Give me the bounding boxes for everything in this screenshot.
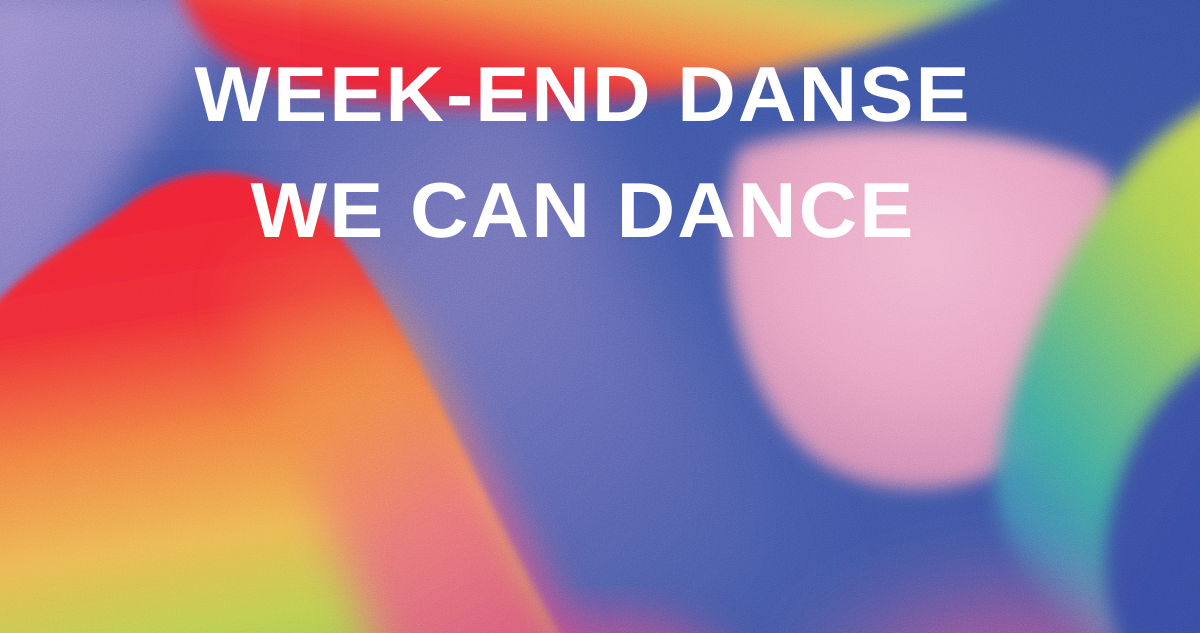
poster-canvas: WEEK-END DANSE WE CAN DANCE (0, 0, 1200, 633)
background-artwork (0, 0, 1200, 633)
